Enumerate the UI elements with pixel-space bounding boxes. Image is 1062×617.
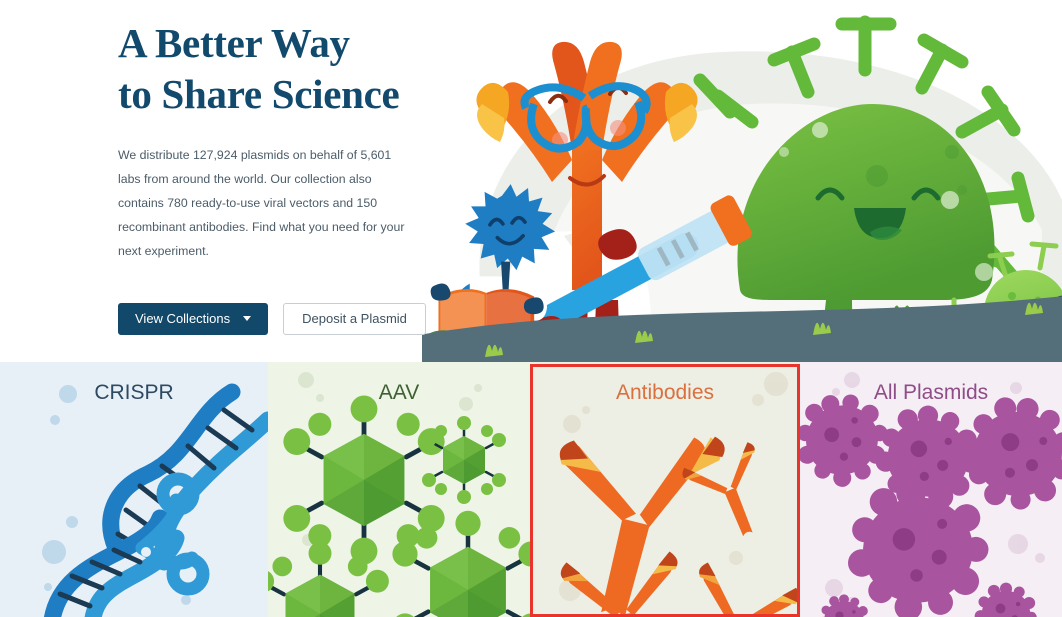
page-title: A Better Way to Share Science	[118, 18, 448, 120]
hero-illustration-svg	[422, 0, 1062, 362]
view-collections-button[interactable]: View Collections	[118, 303, 268, 335]
antibodies-illustration	[530, 362, 800, 617]
plasmid-cell-6	[818, 594, 869, 617]
plasmid-cell-4	[838, 470, 997, 617]
view-collections-label: View Collections	[135, 311, 230, 326]
chevron-down-icon	[243, 316, 251, 321]
all-plasmids-illustration	[800, 362, 1062, 617]
deposit-a-plasmid-label: Deposit a Plasmid	[302, 311, 407, 326]
category-tiles: CRISPR	[0, 362, 1062, 617]
tile-crispr[interactable]: CRISPR	[0, 362, 268, 617]
tile-all-plasmids[interactable]: All Plasmids	[800, 362, 1062, 617]
crispr-illustration	[0, 362, 268, 617]
antibody-bottom-right	[670, 561, 800, 617]
tile-antibodies[interactable]: Antibodies	[530, 362, 800, 617]
hero-cta-row: View Collections Deposit a Plasmid	[118, 303, 448, 335]
hero-description: We distribute 127,924 plasmids on behalf…	[118, 144, 410, 264]
hero-copy: A Better Way to Share Science We distrib…	[118, 18, 448, 335]
antibody-large	[530, 401, 727, 617]
hero-illustration	[422, 0, 1062, 362]
plasmid-cell-5	[975, 583, 1037, 617]
hero-section: A Better Way to Share Science We distrib…	[0, 0, 1062, 362]
deposit-a-plasmid-button[interactable]: Deposit a Plasmid	[283, 303, 426, 335]
tile-aav[interactable]: AAV	[268, 362, 530, 617]
aav-illustration	[268, 362, 530, 617]
plasmid-cell-3	[951, 386, 1062, 519]
